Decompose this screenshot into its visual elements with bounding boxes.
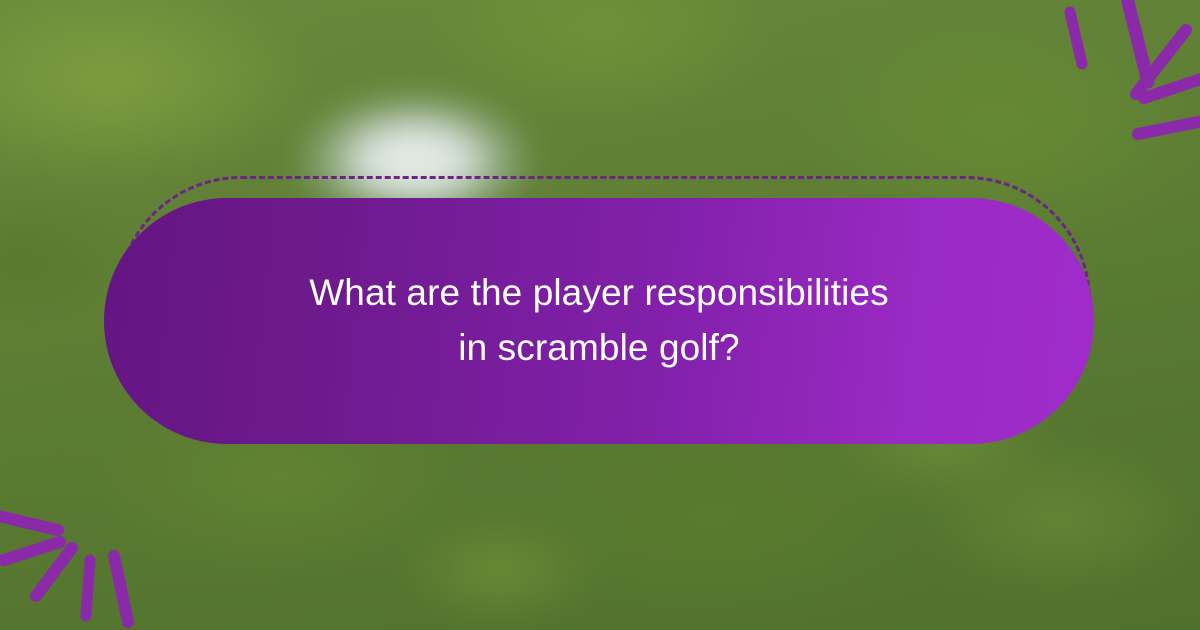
question-text: What are the player responsibilities in … xyxy=(259,266,939,376)
social-share-card: What are the player responsibilities in … xyxy=(0,0,1200,630)
sparkle-stroke xyxy=(1070,12,1082,64)
question-card-group: What are the player responsibilities in … xyxy=(96,176,1106,454)
bottom-left-sparkle-burst-svg xyxy=(0,444,190,630)
sparkle-stroke xyxy=(1128,2,1148,82)
bottom-left-sparkle-burst xyxy=(0,444,190,630)
question-card-panel[interactable]: What are the player responsibilities in … xyxy=(104,198,1094,444)
top-right-sparkle-burst-svg xyxy=(1008,0,1200,184)
sparkle-stroke xyxy=(0,514,58,530)
sparkle-stroke xyxy=(4,542,60,560)
sparkle-stroke xyxy=(1138,120,1200,134)
sparkle-stroke xyxy=(86,560,90,616)
sparkle-stroke xyxy=(114,556,128,622)
top-right-sparkle-burst xyxy=(1008,0,1200,184)
sparkle-stroke xyxy=(36,548,72,596)
